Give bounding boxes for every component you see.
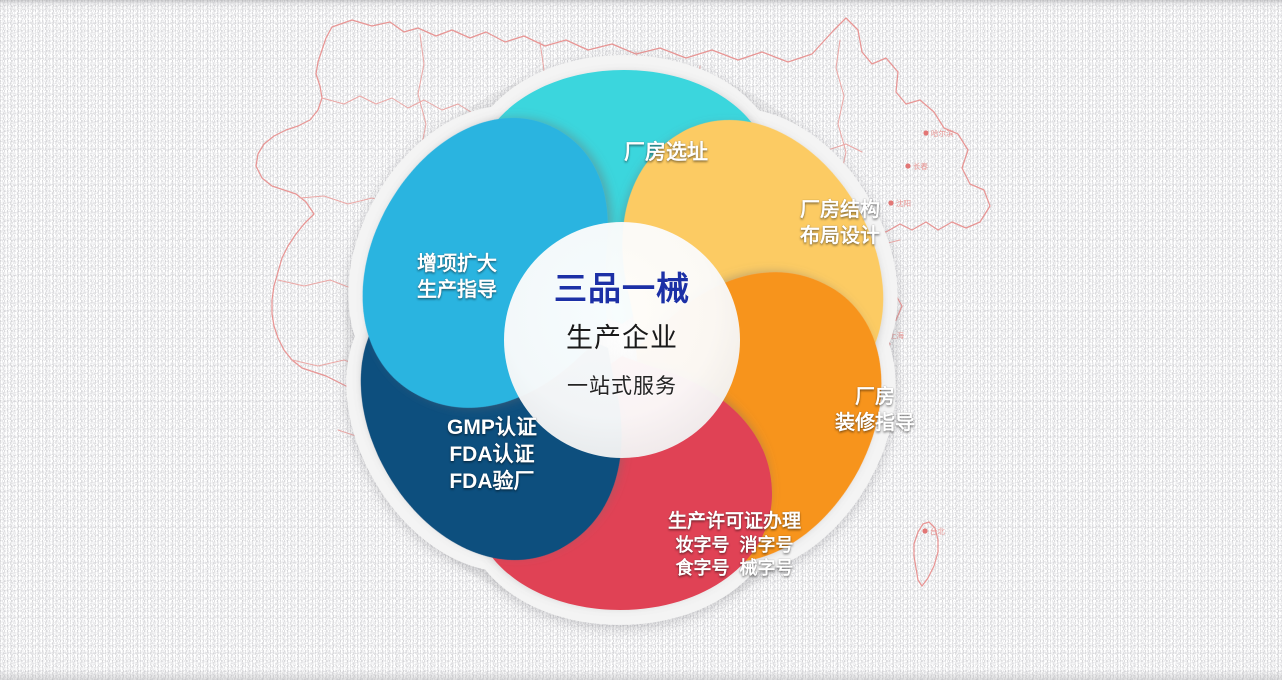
center-hub-disc: [504, 222, 740, 458]
infographic-canvas: 哈尔滨长春沈阳北京济南郑州南京上海武汉杭州南昌长沙福州广州台北海口: [0, 0, 1282, 680]
service-flower-diagram: 厂房选址厂房结构布局设计厂房装修指导生产许可证办理妆字号 消字号食字号 械字号G…: [272, 40, 972, 640]
petal-ring-svg: [272, 40, 972, 640]
